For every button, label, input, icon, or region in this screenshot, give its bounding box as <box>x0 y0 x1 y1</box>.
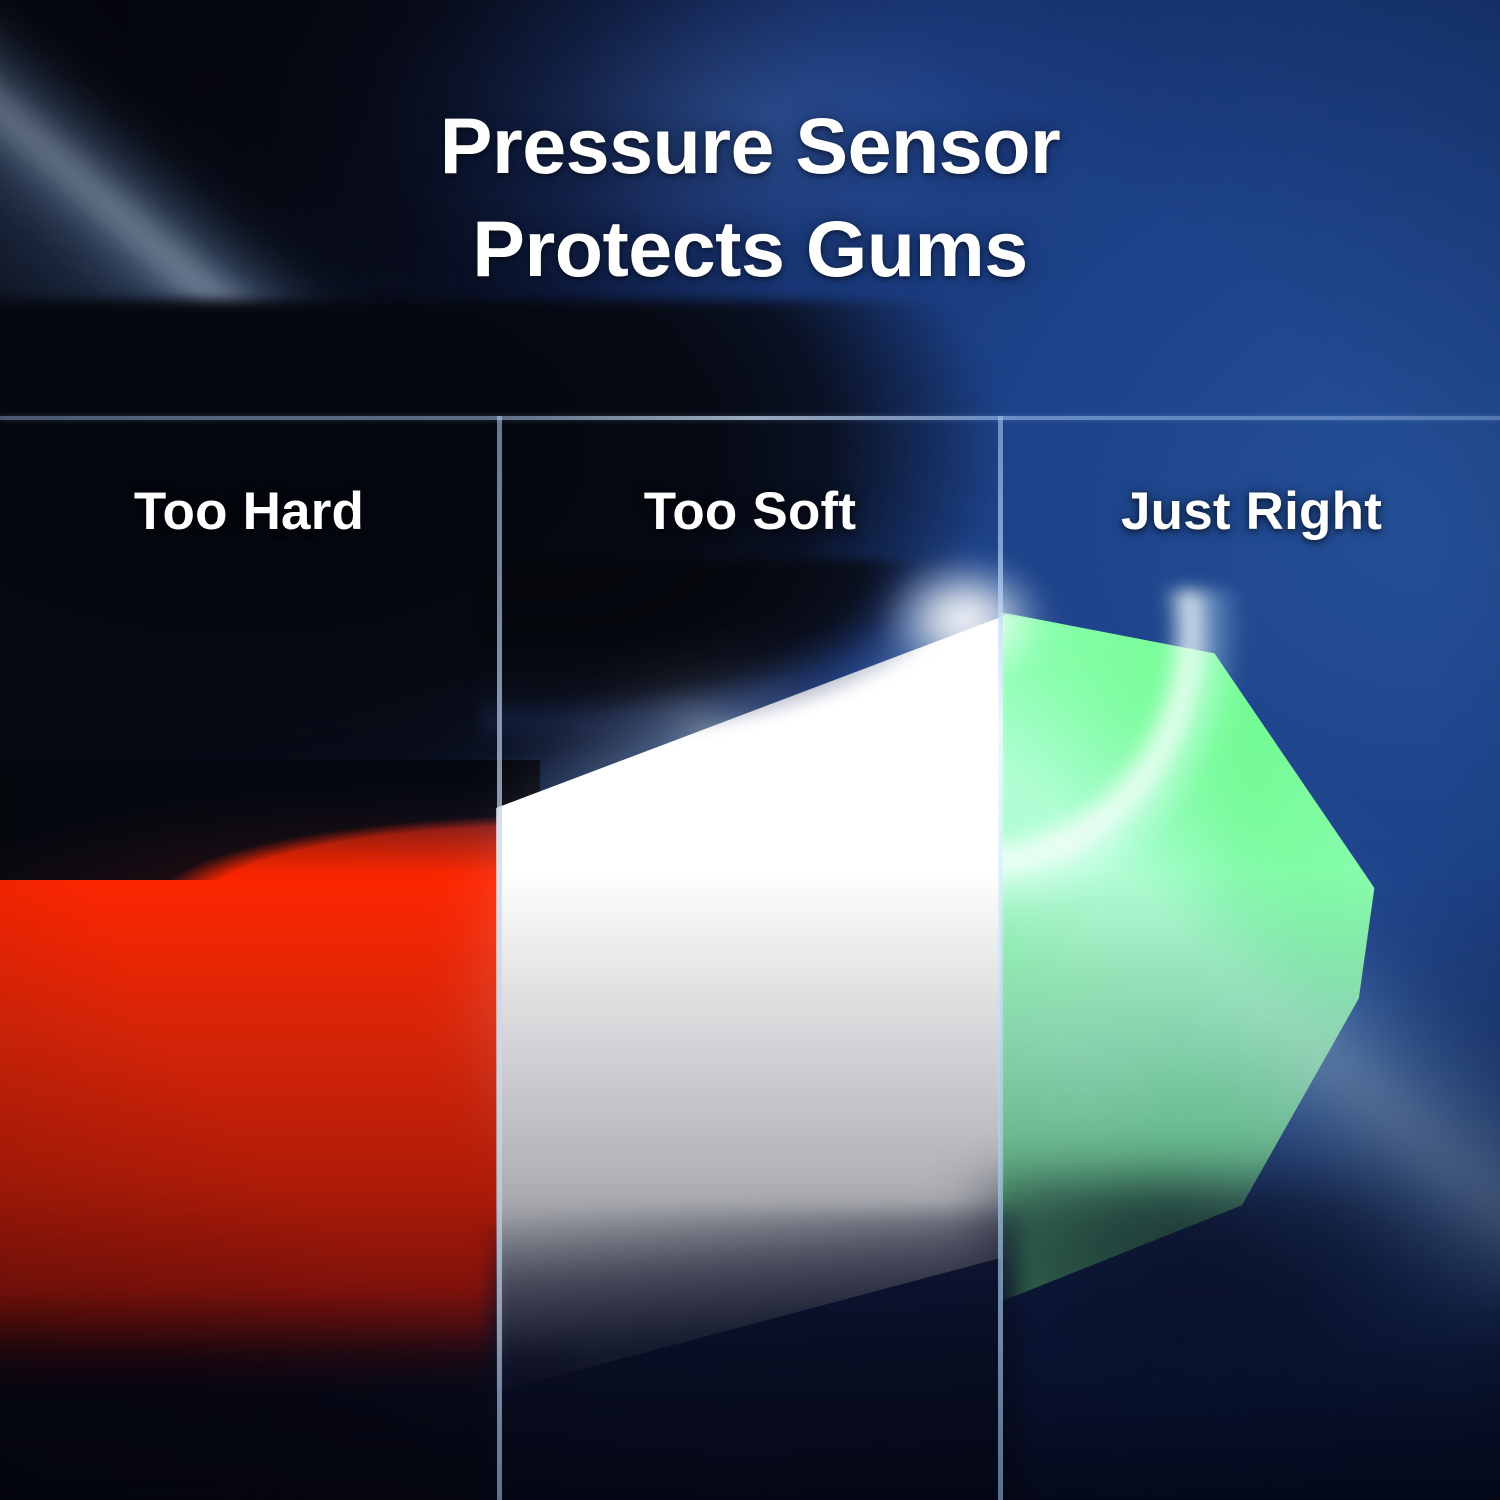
divider-vertical-right <box>998 416 1003 1500</box>
page-title: Pressure Sensor Protects Gums <box>0 95 1500 300</box>
panel-label-too-soft: Too Soft <box>502 481 998 542</box>
divider-horizontal <box>0 416 1500 420</box>
divider-vertical-left <box>497 416 502 1500</box>
panel-label-too-hard: Too Hard <box>0 481 498 542</box>
product-feature-image: Pressure Sensor Protects Gums Too Hard T… <box>0 0 1500 1500</box>
panel-label-just-right: Just Right <box>1003 481 1500 542</box>
